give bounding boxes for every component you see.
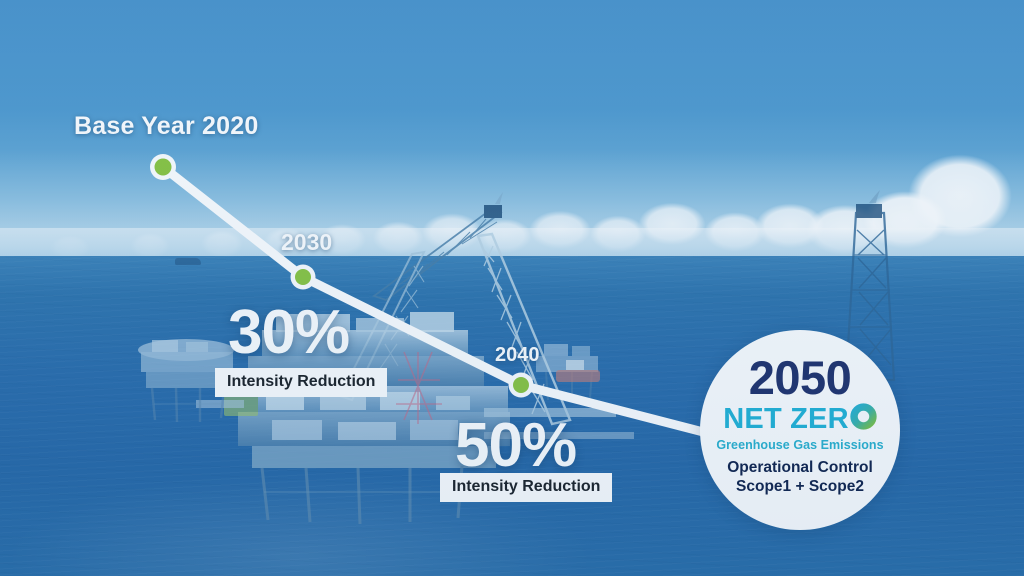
infographic-canvas: Base Year 2020 2030 2040 30% Intensity R… [0, 0, 1024, 576]
color-grade-overlay [0, 0, 1024, 576]
